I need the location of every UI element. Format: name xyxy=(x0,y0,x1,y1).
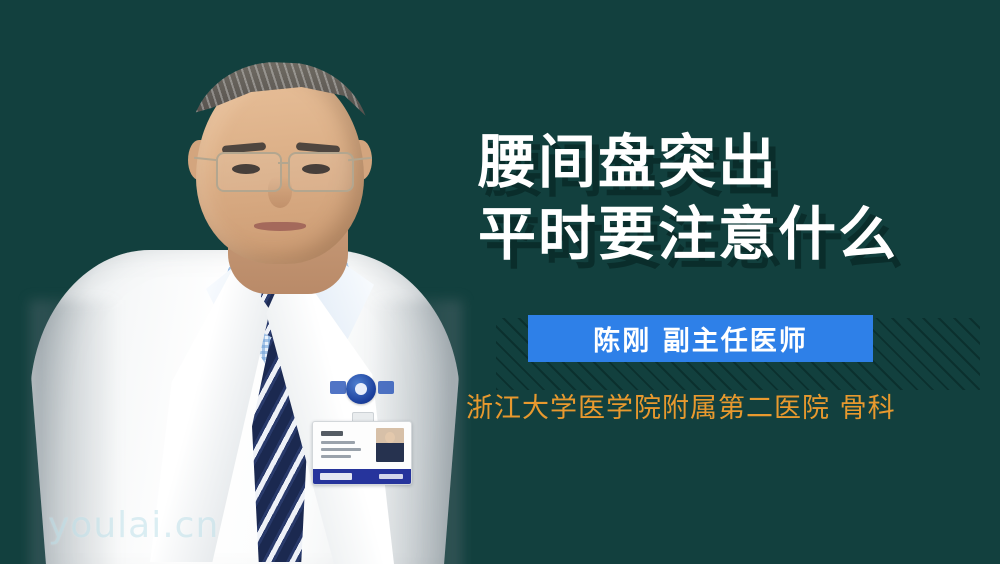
eyeglasses-bridge xyxy=(278,162,290,164)
hospital-logo-icon xyxy=(346,374,376,404)
eyeglasses-lens-left xyxy=(216,152,282,192)
coat-embroidery-left xyxy=(330,381,346,394)
mouth xyxy=(254,222,306,231)
id-badge-detail-line xyxy=(321,448,361,451)
eyeglasses-lens-right xyxy=(288,152,354,192)
watermark: youlai.cn xyxy=(48,505,219,546)
id-badge-footer xyxy=(313,469,411,484)
doctor-affiliation: 浙江大学医学院附属第二医院 骨科 xyxy=(466,386,896,425)
video-title: 腰间盘突出 平时要注意什么 xyxy=(478,126,988,270)
id-badge xyxy=(312,421,412,485)
id-badge-detail-line xyxy=(321,455,351,458)
video-title-line-2: 平时要注意什么 xyxy=(478,198,988,270)
id-badge-name-line xyxy=(321,431,343,436)
coat-embroidery-right xyxy=(378,381,394,394)
video-thumbnail: youlai.cn 腰间盘突出 平时要注意什么 陈刚 副主任医师 浙江大学医学院… xyxy=(0,0,1000,564)
doctor-portrait: youlai.cn xyxy=(0,0,480,564)
id-badge-footer-text xyxy=(379,474,403,479)
doctor-name-badge: 陈刚 副主任医师 xyxy=(528,315,873,362)
video-title-line-1: 腰间盘突出 xyxy=(478,128,778,196)
id-badge-photo xyxy=(376,428,404,462)
id-badge-footer-logo xyxy=(320,473,352,480)
doctor-name-title: 陈刚 副主任医师 xyxy=(593,319,807,358)
id-badge-detail-line xyxy=(321,441,355,444)
